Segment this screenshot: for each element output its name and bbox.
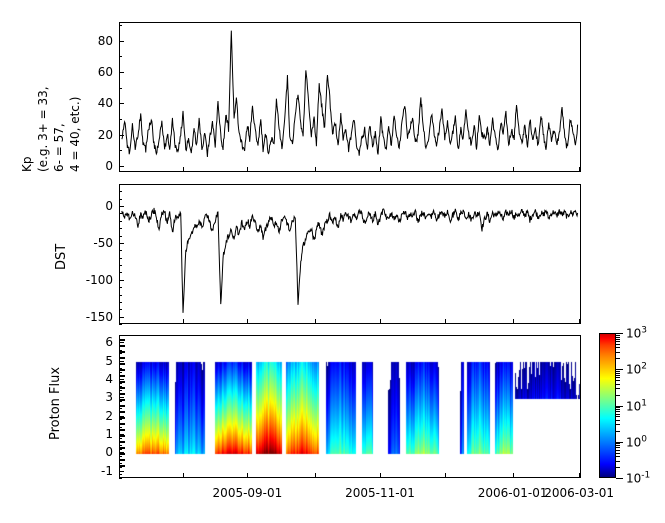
dst-ytick-label: -50 — [77, 236, 113, 250]
dst-axis-title: DST — [54, 244, 69, 270]
flux-left-minor-tick — [120, 345, 125, 347]
figure-canvas: Kp (e.g. 3+ = 33, 6- = 57, 4 = 40, etc.)… — [0, 0, 665, 523]
colorbar-minor-tick — [616, 339, 620, 340]
kp-ytick-label: 80 — [77, 34, 113, 48]
dst-ytick — [119, 206, 124, 207]
dst-ytick-minor — [119, 272, 122, 273]
flux-left-minor-tick — [120, 459, 125, 461]
flux-ytick-minor — [119, 401, 122, 402]
kp-xtick — [380, 167, 381, 172]
flux-left-minor-tick — [120, 441, 125, 443]
colorbar-tick-label: 10-1 — [626, 471, 650, 486]
colorbar-minor-tick — [616, 337, 620, 338]
dst-xtick — [315, 319, 316, 324]
colorbar-minor-tick — [616, 395, 620, 396]
flux-ytick-minor — [119, 353, 122, 354]
colorbar-minor-tick — [616, 409, 620, 410]
flux-ytick-minor — [119, 474, 122, 475]
dst-ytick-minor — [119, 221, 122, 222]
x-axis-tick-label: 2006-03-01 — [544, 486, 614, 500]
colorbar-minor-tick — [616, 411, 620, 412]
flux-left-minor-tick — [120, 453, 125, 455]
dst-xtick — [579, 319, 580, 324]
colorbar-minor-tick — [616, 344, 620, 345]
kp-xtick — [315, 167, 316, 172]
kp-plot-area — [120, 23, 580, 171]
colorbar-tick-label: 102 — [626, 362, 647, 377]
flux-left-minor-tick — [120, 381, 125, 383]
flux-ytick-minor — [119, 419, 122, 420]
kp-xtick — [579, 167, 580, 172]
dst-ytick-minor — [119, 213, 122, 214]
colorbar-minor-tick — [616, 420, 620, 421]
kp-ytick — [119, 166, 124, 167]
colorbar-minor-tick — [616, 447, 620, 448]
dst-ytick — [119, 280, 124, 281]
colorbar-minor-tick — [616, 341, 620, 342]
x-axis-tick-label: 2005-09-01 — [213, 486, 283, 500]
flux-xtick — [579, 473, 580, 478]
colorbar-tick-label: 103 — [626, 326, 647, 341]
flux-xtick — [445, 473, 446, 478]
dst-ytick-minor — [119, 258, 122, 259]
flux-ytick-label: 3 — [77, 390, 113, 404]
colorbar-minor-tick — [616, 456, 620, 457]
flux-ytick-minor — [119, 456, 122, 457]
dst-ytick-label: -150 — [77, 310, 113, 324]
kp-ytick-minor — [119, 25, 122, 26]
flux-left-minor-tick — [120, 339, 125, 341]
flux-left-minor-tick — [120, 387, 125, 389]
flux-left-minor-tick — [120, 375, 125, 377]
dst-plot-panel — [119, 184, 581, 324]
kp-plot-panel — [119, 22, 581, 172]
flux-xtick — [315, 473, 316, 478]
dst-xtick — [247, 319, 248, 324]
dst-ytick-minor — [119, 236, 122, 237]
flux-ytick-minor — [119, 438, 122, 439]
flux-ytick — [119, 342, 124, 343]
colorbar-major-tick — [616, 478, 623, 479]
dst-ytick-minor — [119, 250, 122, 251]
kp-ytick-minor — [119, 119, 122, 120]
flux-left-minor-tick — [120, 411, 125, 413]
flux-ytick-minor — [119, 408, 122, 409]
flux-left-minor-tick — [120, 405, 125, 407]
kp-ytick-minor — [119, 56, 122, 57]
flux-xtick — [247, 473, 248, 478]
colorbar-minor-tick — [616, 358, 620, 359]
kp-ytick — [119, 135, 124, 136]
flux-left-minor-tick — [120, 363, 125, 365]
colorbar-minor-tick — [616, 380, 620, 381]
dst-xtick — [380, 319, 381, 324]
colorbar-minor-tick — [616, 424, 620, 425]
flux-ytick-minor — [119, 390, 122, 391]
kp-axis-title-line-0: Kp — [20, 157, 34, 173]
flux-ytick-label: 6 — [77, 335, 113, 349]
colorbar-minor-tick — [616, 352, 620, 353]
flux-ytick-label: 5 — [77, 354, 113, 368]
colorbar-tick-label: 101 — [626, 398, 647, 413]
colorbar-minor-tick — [616, 453, 620, 454]
dst-xtick — [183, 319, 184, 324]
flux-ytick-label: 2 — [77, 409, 113, 423]
flux-left-minor-tick — [120, 423, 125, 425]
colorbar-minor-tick — [616, 384, 620, 385]
dst-ytick-label: -100 — [77, 273, 113, 287]
colorbar-minor-tick — [616, 443, 620, 444]
dst-plot-area — [120, 185, 580, 323]
proton-flux-plot-area — [120, 336, 580, 477]
kp-ytick-label: 60 — [77, 65, 113, 79]
flux-ytick-minor — [119, 445, 122, 446]
kp-axis-title-line-1: (e.g. 3+ = 33, — [36, 86, 50, 172]
colorbar-minor-tick — [616, 335, 620, 336]
flux-ytick-minor — [119, 467, 122, 468]
dst-xtick — [513, 319, 514, 324]
kp-axis-title-line-2: 6- = 57, — [52, 123, 66, 172]
kp-xtick — [247, 167, 248, 172]
kp-ytick — [119, 103, 124, 104]
flux-left-minor-tick — [120, 399, 125, 401]
kp-ytick-label: 0 — [77, 159, 113, 173]
flux-left-minor-tick — [120, 447, 125, 449]
flux-ytick — [119, 471, 124, 472]
colorbar-minor-tick — [616, 450, 620, 451]
kp-ytick-label: 40 — [77, 96, 113, 110]
kp-series-line — [120, 23, 580, 171]
flux-left-minor-tick — [120, 393, 125, 395]
colorbar-minor-tick — [616, 371, 620, 372]
kp-ytick-label: 20 — [77, 128, 113, 142]
series-path — [122, 31, 578, 157]
series-path — [122, 208, 578, 313]
flux-ytick-minor — [119, 427, 122, 428]
colorbar-major-tick — [616, 369, 623, 370]
dst-ytick-minor — [119, 184, 122, 185]
flux-left-minor-tick — [120, 465, 125, 467]
flux-xtick — [380, 473, 381, 478]
dst-ytick-minor — [119, 295, 122, 296]
flux-left-minor-tick — [120, 435, 125, 437]
flux-ytick-minor — [119, 372, 122, 373]
colorbar-minor-tick — [616, 431, 620, 432]
flux-xtick — [513, 473, 514, 478]
colorbar-minor-tick — [616, 388, 620, 389]
colorbar-minor-tick — [616, 375, 620, 376]
kp-ytick — [119, 41, 124, 42]
flux-left-minor-tick — [120, 429, 125, 431]
colorbar-major-tick — [616, 442, 623, 443]
flux-ytick — [119, 361, 124, 362]
flux-ytick-label: 4 — [77, 372, 113, 386]
flux-left-minor-tick — [120, 417, 125, 419]
flux-left-minor-tick — [120, 357, 125, 359]
x-axis-tick-label: 2005-11-01 — [345, 486, 415, 500]
proton-flux-panel — [119, 335, 581, 478]
dst-ytick-minor — [119, 324, 122, 325]
dst-ytick-minor — [119, 191, 122, 192]
kp-ytick — [119, 72, 124, 73]
dst-ytick-minor — [119, 228, 122, 229]
flux-left-minor-tick — [120, 369, 125, 371]
flux-ytick-label: 0 — [77, 445, 113, 459]
x-axis-tick-label: 2006-01-01 — [478, 486, 548, 500]
dst-ytick-minor — [119, 287, 122, 288]
colorbar-minor-tick — [616, 416, 620, 417]
dst-ytick-minor — [119, 309, 122, 310]
flux-xtick — [183, 473, 184, 478]
colorbar-major-tick — [616, 406, 623, 407]
kp-ytick-minor — [119, 88, 122, 89]
colorbar-minor-tick — [616, 461, 620, 462]
flux-ytick-label: -1 — [77, 464, 113, 478]
dst-series-line — [120, 185, 580, 323]
kp-ytick-minor — [119, 150, 122, 151]
colorbar-minor-tick — [616, 347, 620, 348]
kp-xtick — [445, 167, 446, 172]
colorbar-major-tick — [616, 333, 623, 334]
colorbar — [599, 333, 616, 478]
colorbar-minor-tick — [616, 467, 620, 468]
dst-xtick — [445, 319, 446, 324]
flux-left-minor-tick — [120, 351, 125, 353]
flux-ytick-label: 1 — [77, 427, 113, 441]
flux-ytick-minor — [119, 478, 122, 479]
colorbar-tick-label: 100 — [626, 434, 647, 449]
dst-ytick-minor — [119, 199, 122, 200]
dst-ytick-label: 0 — [77, 199, 113, 213]
dst-ytick-minor — [119, 302, 122, 303]
colorbar-minor-tick — [616, 373, 620, 374]
kp-xtick — [513, 167, 514, 172]
kp-xtick — [183, 167, 184, 172]
flux-axis-title: Proton Flux — [48, 367, 63, 440]
dst-ytick — [119, 243, 124, 244]
flux-ytick — [119, 379, 124, 380]
dst-ytick — [119, 317, 124, 318]
colorbar-minor-tick — [616, 445, 620, 446]
colorbar-minor-tick — [616, 407, 620, 408]
colorbar-minor-tick — [616, 377, 620, 378]
dst-ytick-minor — [119, 265, 122, 266]
proton-flux-spectrogram — [120, 336, 580, 477]
colorbar-minor-tick — [616, 414, 620, 415]
